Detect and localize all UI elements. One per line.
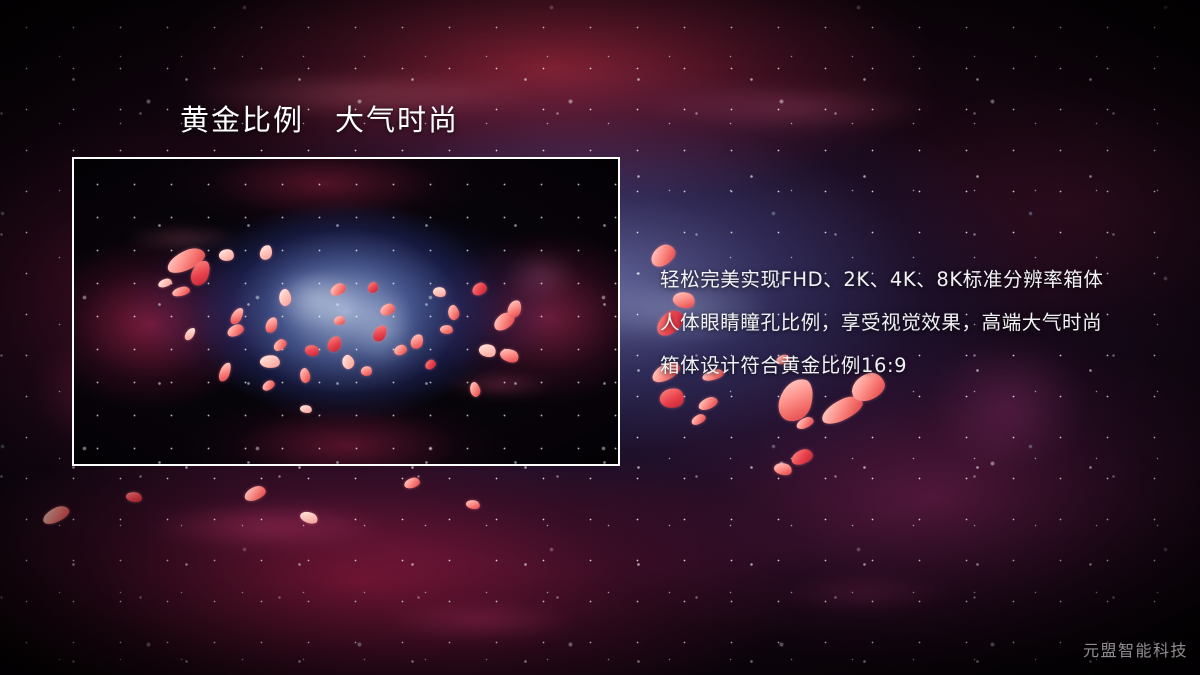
watermark: 元盟智能科技	[1083, 637, 1188, 661]
presentation-slide: 黄金比例 大气时尚 轻松完美实现FHD、2K、4K、8K标准分辨率箱体 人体眼睛…	[0, 0, 1200, 675]
framed-photo	[72, 157, 620, 466]
body-line-3: 箱体设计符合黄金比例16:9	[660, 344, 1190, 387]
flower-petal-icon	[368, 282, 378, 293]
page-title: 黄金比例 大气时尚	[180, 102, 459, 138]
body-line-1: 轻松完美实现FHD、2K、4K、8K标准分辨率箱体	[660, 258, 1190, 301]
body-line-2: 人体眼睛瞳孔比例，享受视觉效果，高端大气时尚	[660, 301, 1190, 344]
body-copy: 轻松完美实现FHD、2K、4K、8K标准分辨率箱体 人体眼睛瞳孔比例，享受视觉效…	[660, 258, 1190, 387]
photo-starfield	[74, 159, 618, 464]
